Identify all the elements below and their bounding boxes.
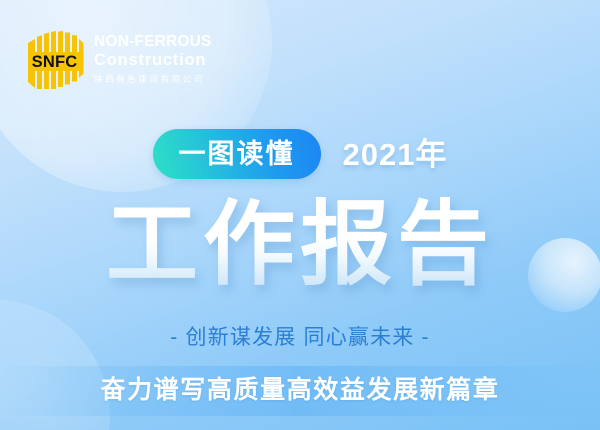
logo-lockup: SNFC NON-FERROUS Construction 陕西有色建设有限公司 [26,27,212,91]
logo-text-block: NON-FERROUS Construction 陕西有色建设有限公司 [94,31,212,87]
logo-line-non-ferrous: NON-FERROUS [94,33,212,51]
poster-canvas: SNFC NON-FERROUS Construction 陕西有色建设有限公司… [0,0,600,430]
logo-line-company-cn: 陕西有色建设有限公司 [94,71,212,87]
snfc-fan-logo-icon: SNFC [26,27,84,91]
footer-tagline: 奋力谱写高质量高效益发展新篇章 [0,375,600,406]
main-title: 工作报告 [0,196,600,295]
logo-line-construction: Construction [94,51,212,70]
year-label: 2021年 [343,139,448,170]
decorative-circle-bottom-left [0,300,110,430]
badge-pill-label: 一图读懂 [179,141,295,168]
svg-text:SNFC: SNFC [32,53,78,71]
slogan-text: - 创新谋发展 同心赢未来 - [0,325,600,350]
badge-pill: 一图读懂 [153,129,321,179]
headline-row: 一图读懂 2021年 [0,129,600,179]
